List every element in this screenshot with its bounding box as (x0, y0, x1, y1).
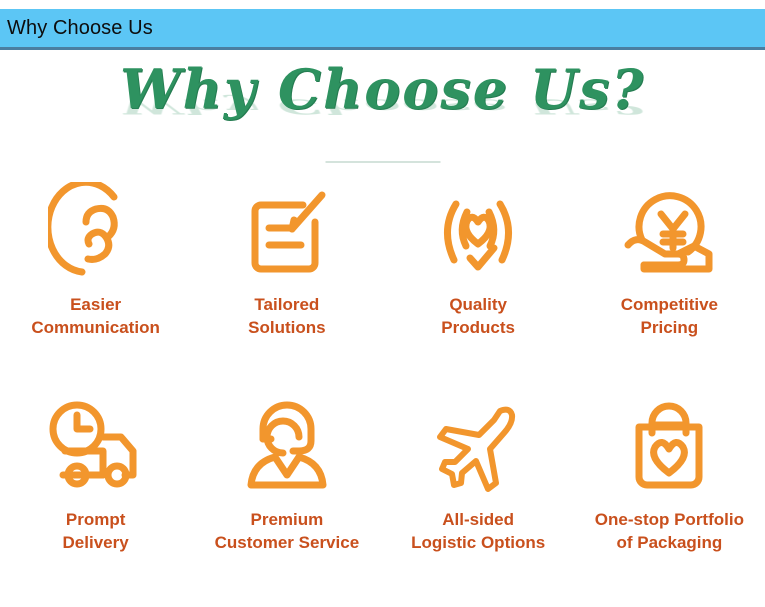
feature-item-competitive-pricing[interactable]: Competitive Pricing (574, 177, 765, 392)
shopping-bag-heart-icon (619, 392, 719, 502)
headset-agent-icon (237, 392, 337, 502)
page-title: Why Choose Us? (0, 57, 765, 121)
feature-item-quality-products[interactable]: Quality Products (383, 177, 574, 392)
feature-item-prompt-delivery[interactable]: Prompt Delivery (0, 392, 191, 607)
feature-label: Premium Customer Service (215, 509, 360, 554)
page-content: Why Choose Us? Why Choose Us? Easier Com… (0, 53, 765, 599)
feature-item-easier-communication[interactable]: Easier Communication (0, 177, 191, 392)
feature-row: Prompt Delivery Premium Customer Service (0, 392, 765, 607)
feature-label: All-sided Logistic Options (411, 509, 545, 554)
heart-signal-check-icon (426, 177, 530, 287)
feature-item-one-stop-portfolio[interactable]: One-stop Portfolio of Packaging (574, 392, 765, 607)
feature-row: Easier Communication Tailored Solutions (0, 177, 765, 392)
feature-label: Competitive Pricing (621, 294, 718, 339)
feature-label: Prompt Delivery (63, 509, 129, 554)
truck-clock-icon (41, 392, 151, 502)
airplane-icon (428, 392, 528, 502)
feature-label: Tailored Solutions (248, 294, 325, 339)
feature-item-premium-customer-service[interactable]: Premium Customer Service (191, 392, 382, 607)
feature-item-tailored-solutions[interactable]: Tailored Solutions (191, 177, 382, 392)
feature-label: Easier Communication (31, 294, 159, 339)
document-pencil-icon (237, 177, 337, 287)
ear-listening-icon (48, 177, 144, 287)
hand-yen-coin-icon (616, 177, 722, 287)
page-title-block: Why Choose Us? Why Choose Us? (0, 53, 765, 165)
feature-grid: Easier Communication Tailored Solutions (0, 177, 765, 607)
title-divider (325, 161, 440, 163)
feature-label: Quality Products (441, 294, 515, 339)
feature-item-all-sided-logistic-options[interactable]: All-sided Logistic Options (383, 392, 574, 607)
feature-label: One-stop Portfolio of Packaging (595, 509, 744, 554)
window-title: Why Choose Us (0, 17, 153, 40)
window-header: Why Choose Us (0, 9, 765, 50)
